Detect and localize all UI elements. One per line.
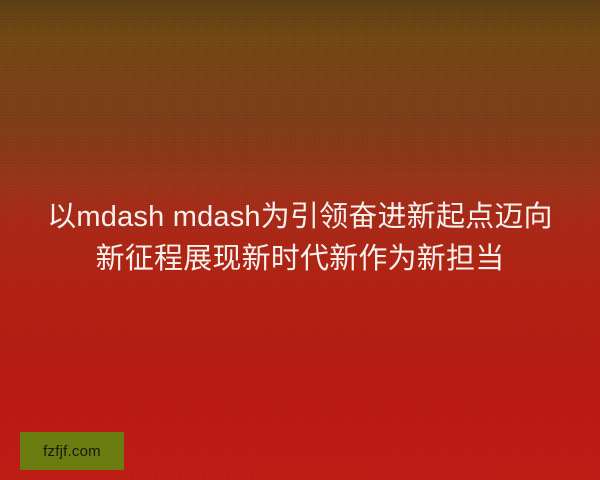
banner-headline: 以mdash mdash为引领奋进新起点迈向新征程展现新时代新作为新担当 xyxy=(0,196,600,280)
watermark-label: fzfjf.com xyxy=(43,443,101,460)
watermark-badge: fzfjf.com xyxy=(20,432,124,470)
banner-image: 以mdash mdash为引领奋进新起点迈向新征程展现新时代新作为新担当 fzf… xyxy=(0,0,600,480)
